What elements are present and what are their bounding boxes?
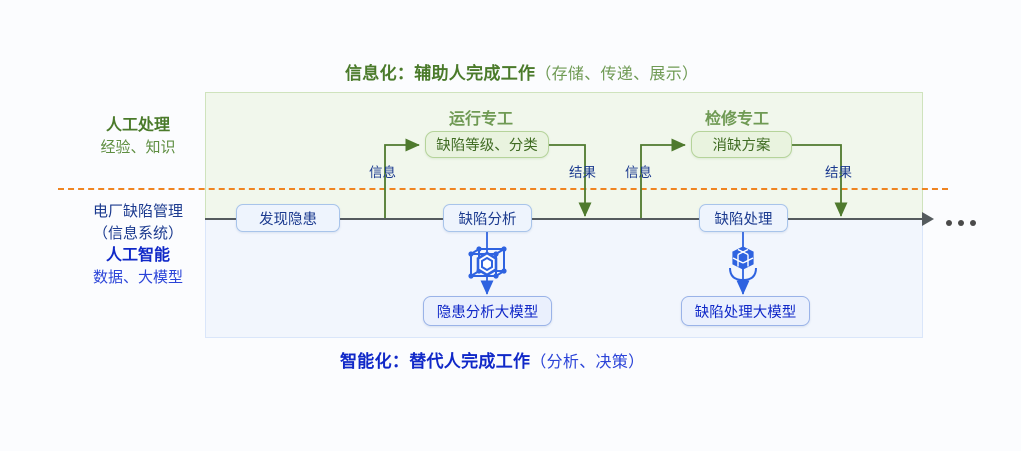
group-heading-operation: 运行专工: [449, 105, 513, 129]
flow-box-defect-analysis[interactable]: 缺陷分析: [443, 204, 532, 232]
timeline-arrowhead: [922, 212, 934, 226]
legend-system-sub: （信息系统）: [58, 223, 218, 245]
task-box-repair-plan[interactable]: 消缺方案: [691, 131, 792, 158]
bottom-caption-strong: 智能化：替代人完成工作: [340, 352, 530, 371]
model-box-hazard-analysis[interactable]: 隐患分析大模型: [423, 296, 552, 326]
informatization-panel: [205, 92, 923, 219]
edge-label-result-2: 结果: [825, 161, 852, 181]
flow-box-discover-hazard[interactable]: 发现隐患: [236, 204, 340, 232]
bottom-caption-light: （分析、决策）: [530, 354, 644, 371]
model-box-defect-handling[interactable]: 缺陷处理大模型: [681, 296, 810, 326]
continuation-dots: [946, 213, 982, 231]
legend-system: 电厂缺陷管理 （信息系统）: [58, 201, 218, 245]
flow-box-defect-handling[interactable]: 缺陷处理: [699, 204, 788, 232]
group-heading-maintenance: 检修专工: [705, 105, 769, 129]
edge-label-info-1: 信息: [369, 161, 396, 181]
intelligence-panel: [205, 219, 923, 338]
edge-label-result-1: 结果: [569, 161, 596, 181]
task-box-defect-grading[interactable]: 缺陷等级、分类: [425, 131, 549, 158]
legend-manual-sub: 经验、知识: [58, 137, 218, 159]
legend-ai: 人工智能 数据、大模型: [58, 245, 218, 289]
legend-manual-title: 人工处理: [58, 115, 218, 137]
human-ai-divider: [58, 188, 948, 190]
legend-ai-title: 人工智能: [58, 245, 218, 267]
top-caption: 信息化：辅助人完成工作（存储、传递、展示）: [345, 59, 698, 84]
bottom-caption: 智能化：替代人完成工作（分析、决策）: [340, 347, 644, 372]
legend-manual: 人工处理 经验、知识: [58, 115, 218, 159]
edge-label-info-2: 信息: [625, 161, 652, 181]
top-caption-light: （存储、传递、展示）: [535, 66, 698, 83]
legend-system-title: 电厂缺陷管理: [58, 201, 218, 223]
legend-ai-sub: 数据、大模型: [58, 267, 218, 289]
cube-stack-icon: [718, 242, 768, 297]
top-caption-strong: 信息化：辅助人完成工作: [345, 64, 535, 83]
diagram-canvas: 信息化：辅助人完成工作（存储、传递、展示） 智能化：替代人完成工作（分析、决策）…: [0, 0, 1021, 451]
cube-lattice-icon: [462, 242, 512, 297]
